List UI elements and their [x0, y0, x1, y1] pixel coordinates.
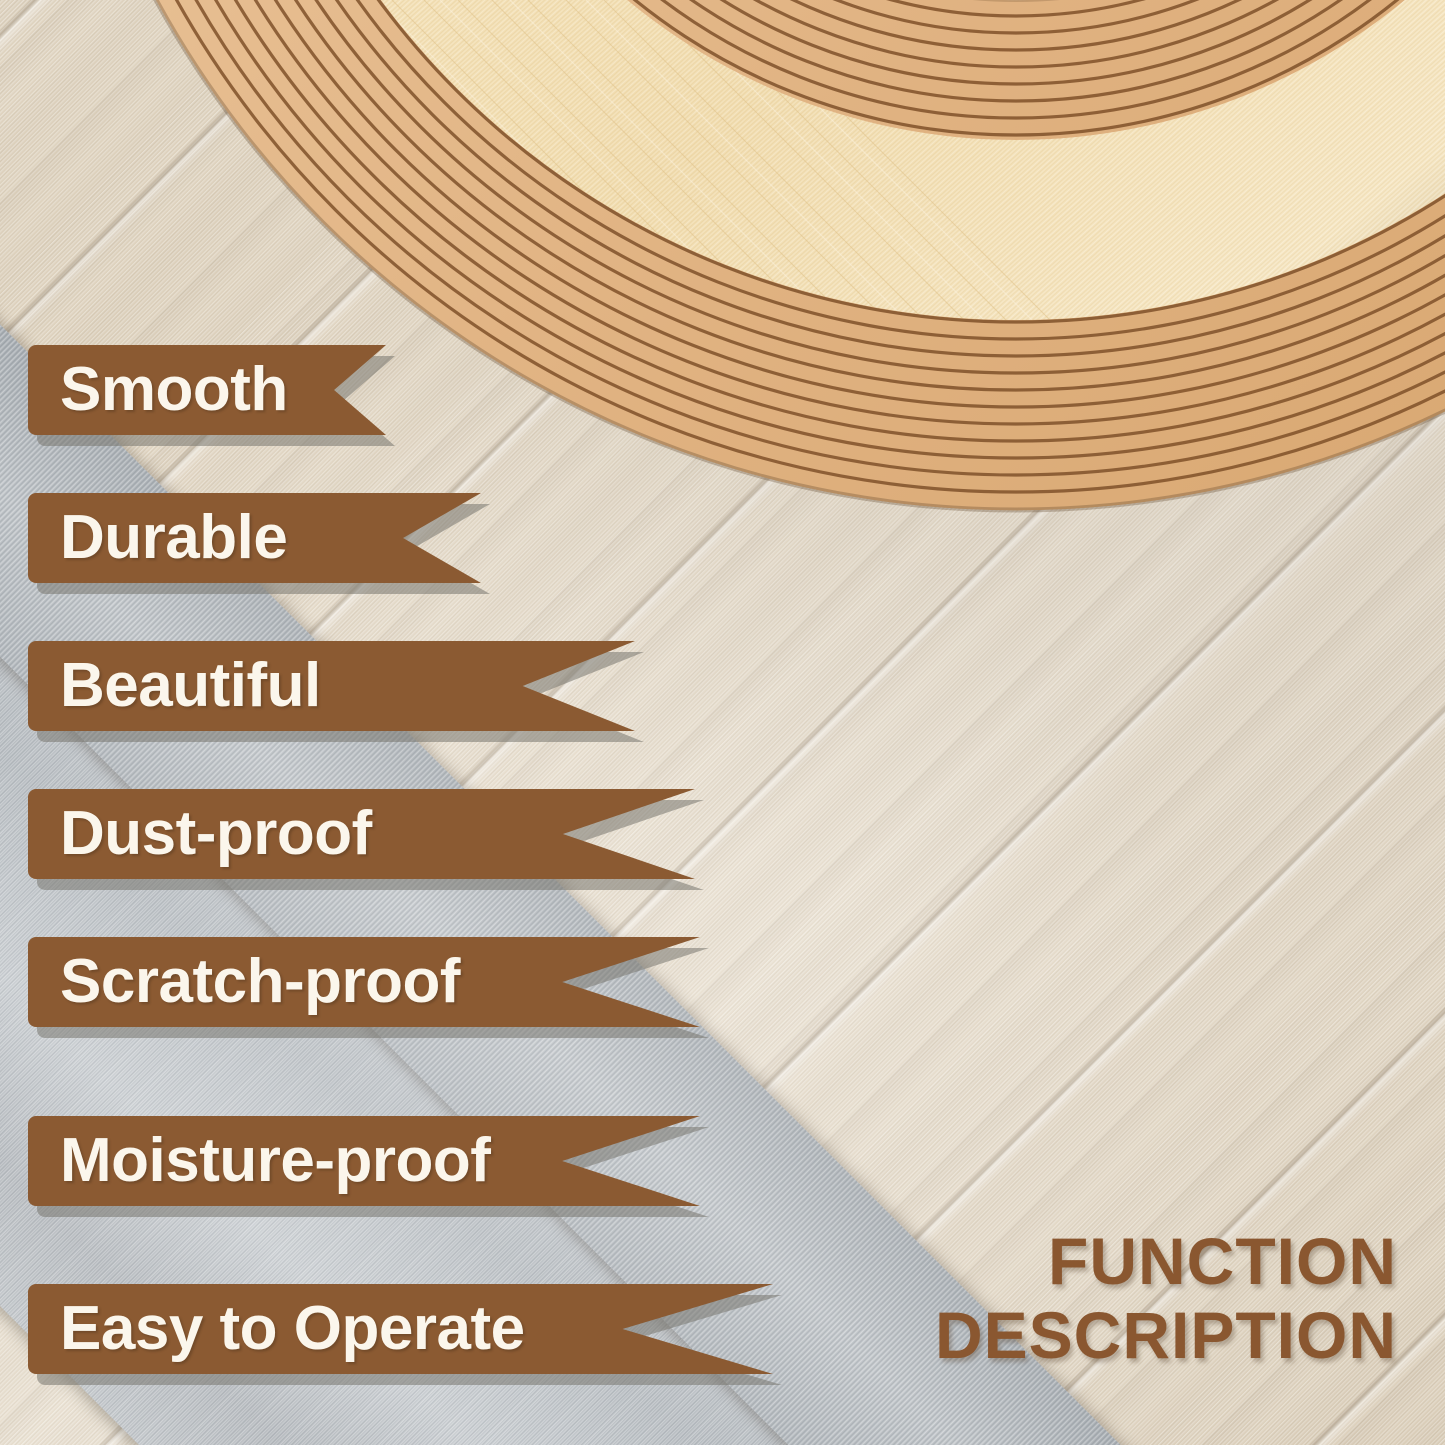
feature-ribbon-dust-proof: Dust-proof [28, 789, 695, 879]
function-description-heading: FUNCTION DESCRIPTION [935, 1225, 1397, 1373]
heading-line-2: DESCRIPTION [935, 1299, 1397, 1373]
feature-label: Moisture-proof [28, 1130, 490, 1192]
infographic-canvas: Smooth Durable Beautiful Dust-proof Scra… [0, 0, 1445, 1445]
feature-label: Dust-proof [28, 803, 372, 865]
feature-ribbon-moisture-proof: Moisture-proof [28, 1116, 700, 1206]
heading-line-1: FUNCTION [935, 1225, 1397, 1299]
feature-label: Easy to Operate [28, 1298, 525, 1360]
feature-ribbon-smooth: Smooth [28, 345, 386, 435]
feature-label: Durable [28, 507, 287, 569]
feature-ribbon-scratch-proof: Scratch-proof [28, 937, 700, 1027]
feature-ribbon-durable: Durable [28, 493, 481, 583]
feature-ribbon-easy-to-operate: Easy to Operate [28, 1284, 773, 1374]
feature-label: Beautiful [28, 655, 321, 717]
feature-ribbon-beautiful: Beautiful [28, 641, 635, 731]
feature-label: Scratch-proof [28, 951, 460, 1013]
feature-label: Smooth [28, 359, 288, 421]
